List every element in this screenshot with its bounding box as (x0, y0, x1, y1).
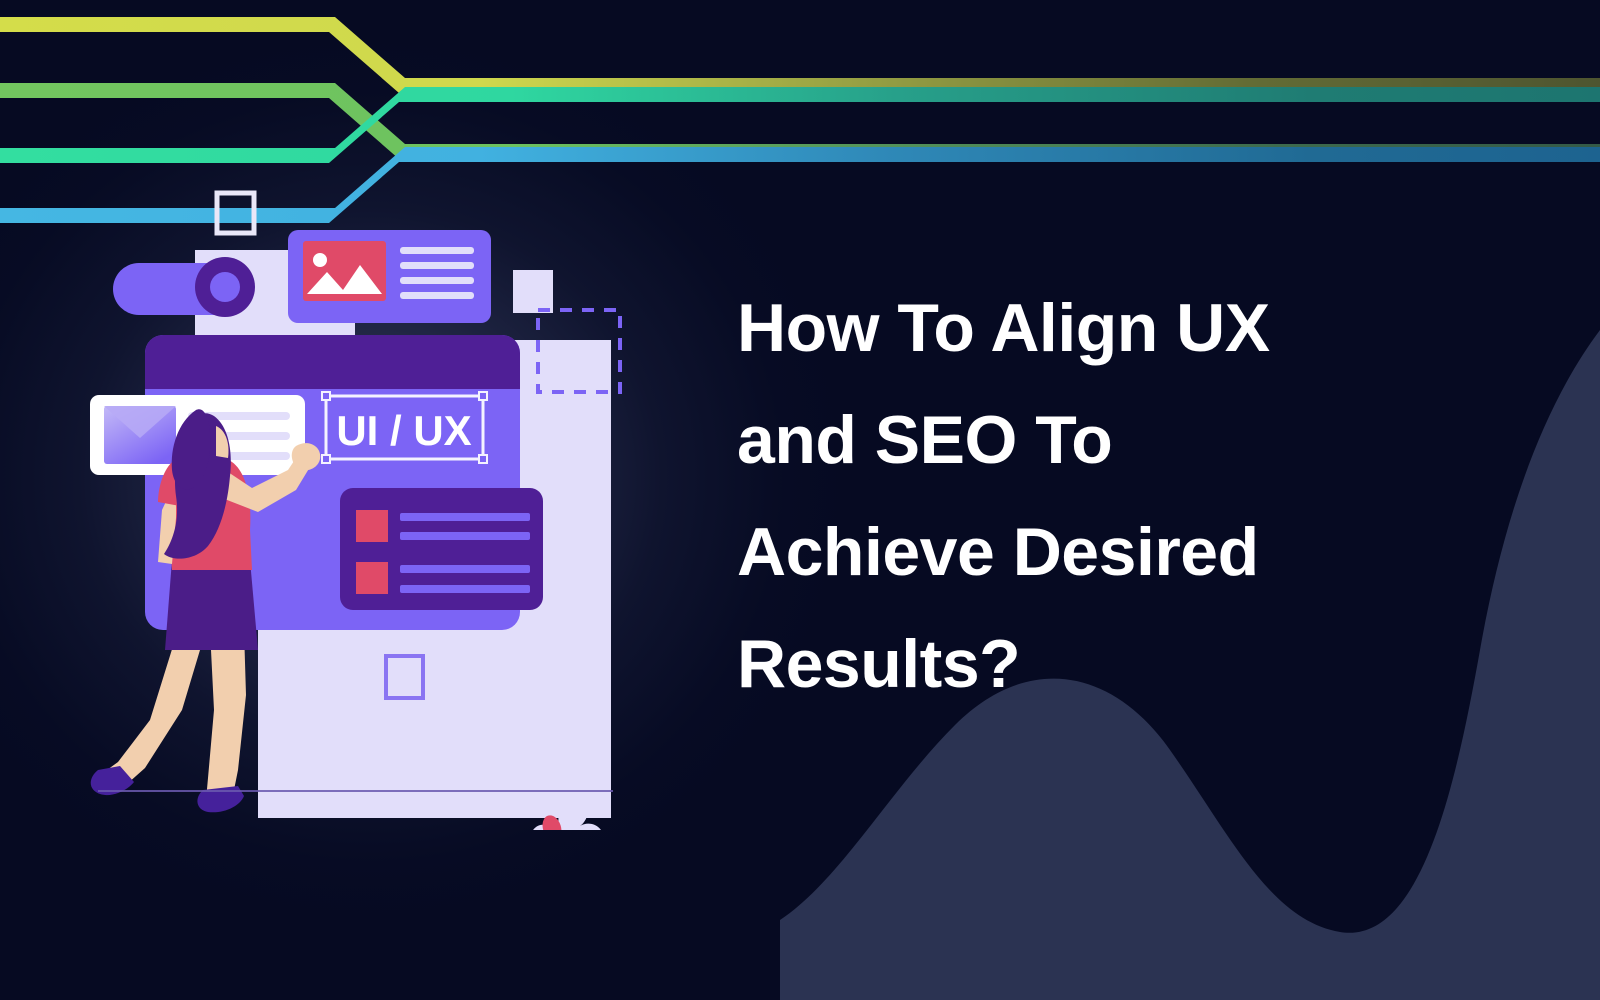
ui-ux-label: UI / UX (336, 407, 471, 454)
list-bullet-1 (356, 510, 388, 542)
headline-line-1: How To Align UX (737, 272, 1457, 384)
list-card (340, 488, 543, 610)
toggle-knob-inner (210, 272, 240, 302)
list-bullet-2 (356, 562, 388, 594)
person-front-leg (206, 630, 246, 800)
browser-title-bar (145, 335, 520, 389)
person-skirt (165, 560, 258, 650)
square-outline-white-icon (217, 193, 254, 233)
headline-line-3: Achieve Desired (737, 496, 1457, 608)
headline: How To Align UX and SEO To Achieve Desir… (737, 272, 1457, 720)
small-lavender-square (513, 270, 553, 313)
banner-canvas: UI / UX (0, 0, 1600, 1000)
headline-line-2: and SEO To (737, 384, 1457, 496)
person-shoe-front (197, 786, 244, 812)
ui-ux-illustration: UI / UX (0, 150, 680, 830)
headline-line-4: Results? (737, 608, 1457, 720)
